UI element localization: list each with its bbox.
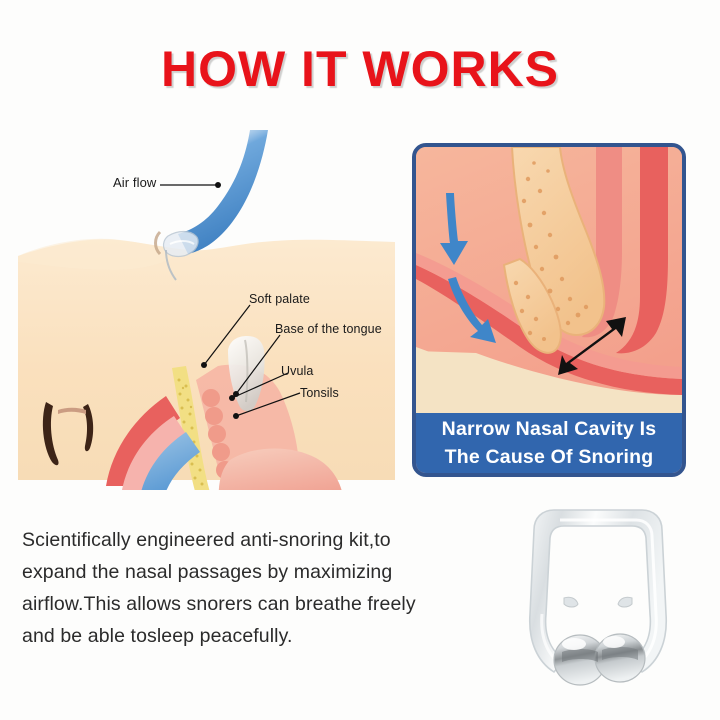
nasal-cavity-illustration bbox=[416, 147, 682, 421]
label-uvula: Uvula bbox=[281, 364, 313, 378]
description-line-3: airflow.This allows snorers can breathe … bbox=[22, 588, 492, 620]
panel-caption-line-1: Narrow Nasal Cavity Is bbox=[416, 415, 682, 443]
narrow-nasal-cavity-panel: Narrow Nasal Cavity Is The Cause Of Snor… bbox=[412, 143, 686, 477]
label-base-of-tongue: Base of the tongue bbox=[275, 322, 382, 336]
description-line-1: Scientifically engineered anti-snoring k… bbox=[22, 524, 492, 556]
description-paragraph: Scientifically engineered anti-snoring k… bbox=[22, 524, 492, 652]
page-title: HOW IT WORKS bbox=[0, 44, 720, 94]
panel-caption: Narrow Nasal Cavity Is The Cause Of Snor… bbox=[416, 413, 682, 473]
label-air-flow: Air flow bbox=[113, 175, 156, 190]
description-line-2: expand the nasal passages by maximizing bbox=[22, 556, 492, 588]
page-root: HOW IT WORKS bbox=[0, 0, 720, 720]
label-tonsils: Tonsils bbox=[300, 386, 339, 400]
panel-caption-line-2: The Cause Of Snoring bbox=[416, 443, 682, 471]
left-anatomy-illustration bbox=[0, 130, 400, 490]
inner-nub-left bbox=[564, 597, 578, 607]
label-soft-palate: Soft palate bbox=[249, 292, 310, 306]
inner-nub-right bbox=[618, 597, 632, 607]
product-image-nose-clip bbox=[498, 494, 698, 690]
description-line-4: and be able tosleep peacefully. bbox=[22, 620, 492, 652]
